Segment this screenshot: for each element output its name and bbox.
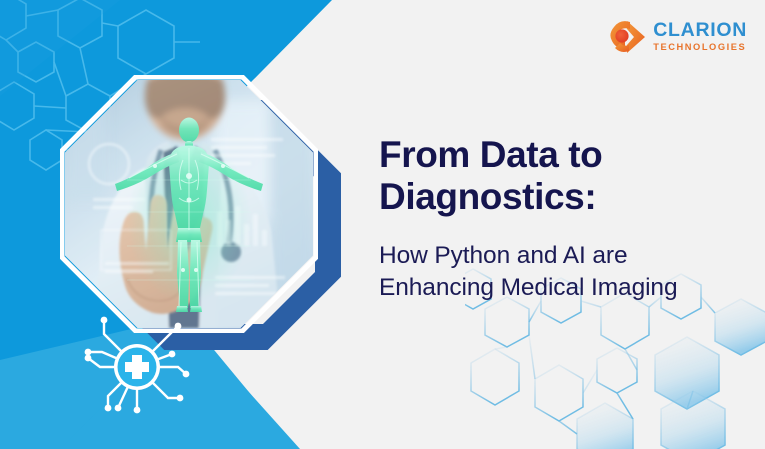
banner-canvas: CLARION TECHNOLOGIES From Data to Diagno… (0, 0, 765, 449)
subhead-line-1: How Python and AI are (379, 242, 628, 269)
headline-line-2: Diagnostics: (379, 176, 596, 217)
logo-wordmark: CLARION TECHNOLOGIES (653, 21, 747, 52)
page-subtitle: How Python and AI are Enhancing Medical … (379, 240, 751, 303)
clarion-arrow-mark-icon (610, 20, 646, 54)
headline-line-1: From Data to (379, 134, 602, 175)
page-title: From Data to Diagnostics: (379, 134, 751, 218)
subhead-line-2: Enhancing Medical Imaging (379, 274, 678, 301)
doctor-hologram-photo (65, 80, 313, 328)
logo-name: CLARION (653, 21, 747, 41)
brand-logo[interactable]: CLARION TECHNOLOGIES (610, 20, 747, 54)
copy-block: From Data to Diagnostics: How Python and… (379, 134, 751, 303)
connected-medical-cross-icon (82, 312, 192, 422)
logo-subtitle: TECHNOLOGIES (653, 43, 747, 52)
